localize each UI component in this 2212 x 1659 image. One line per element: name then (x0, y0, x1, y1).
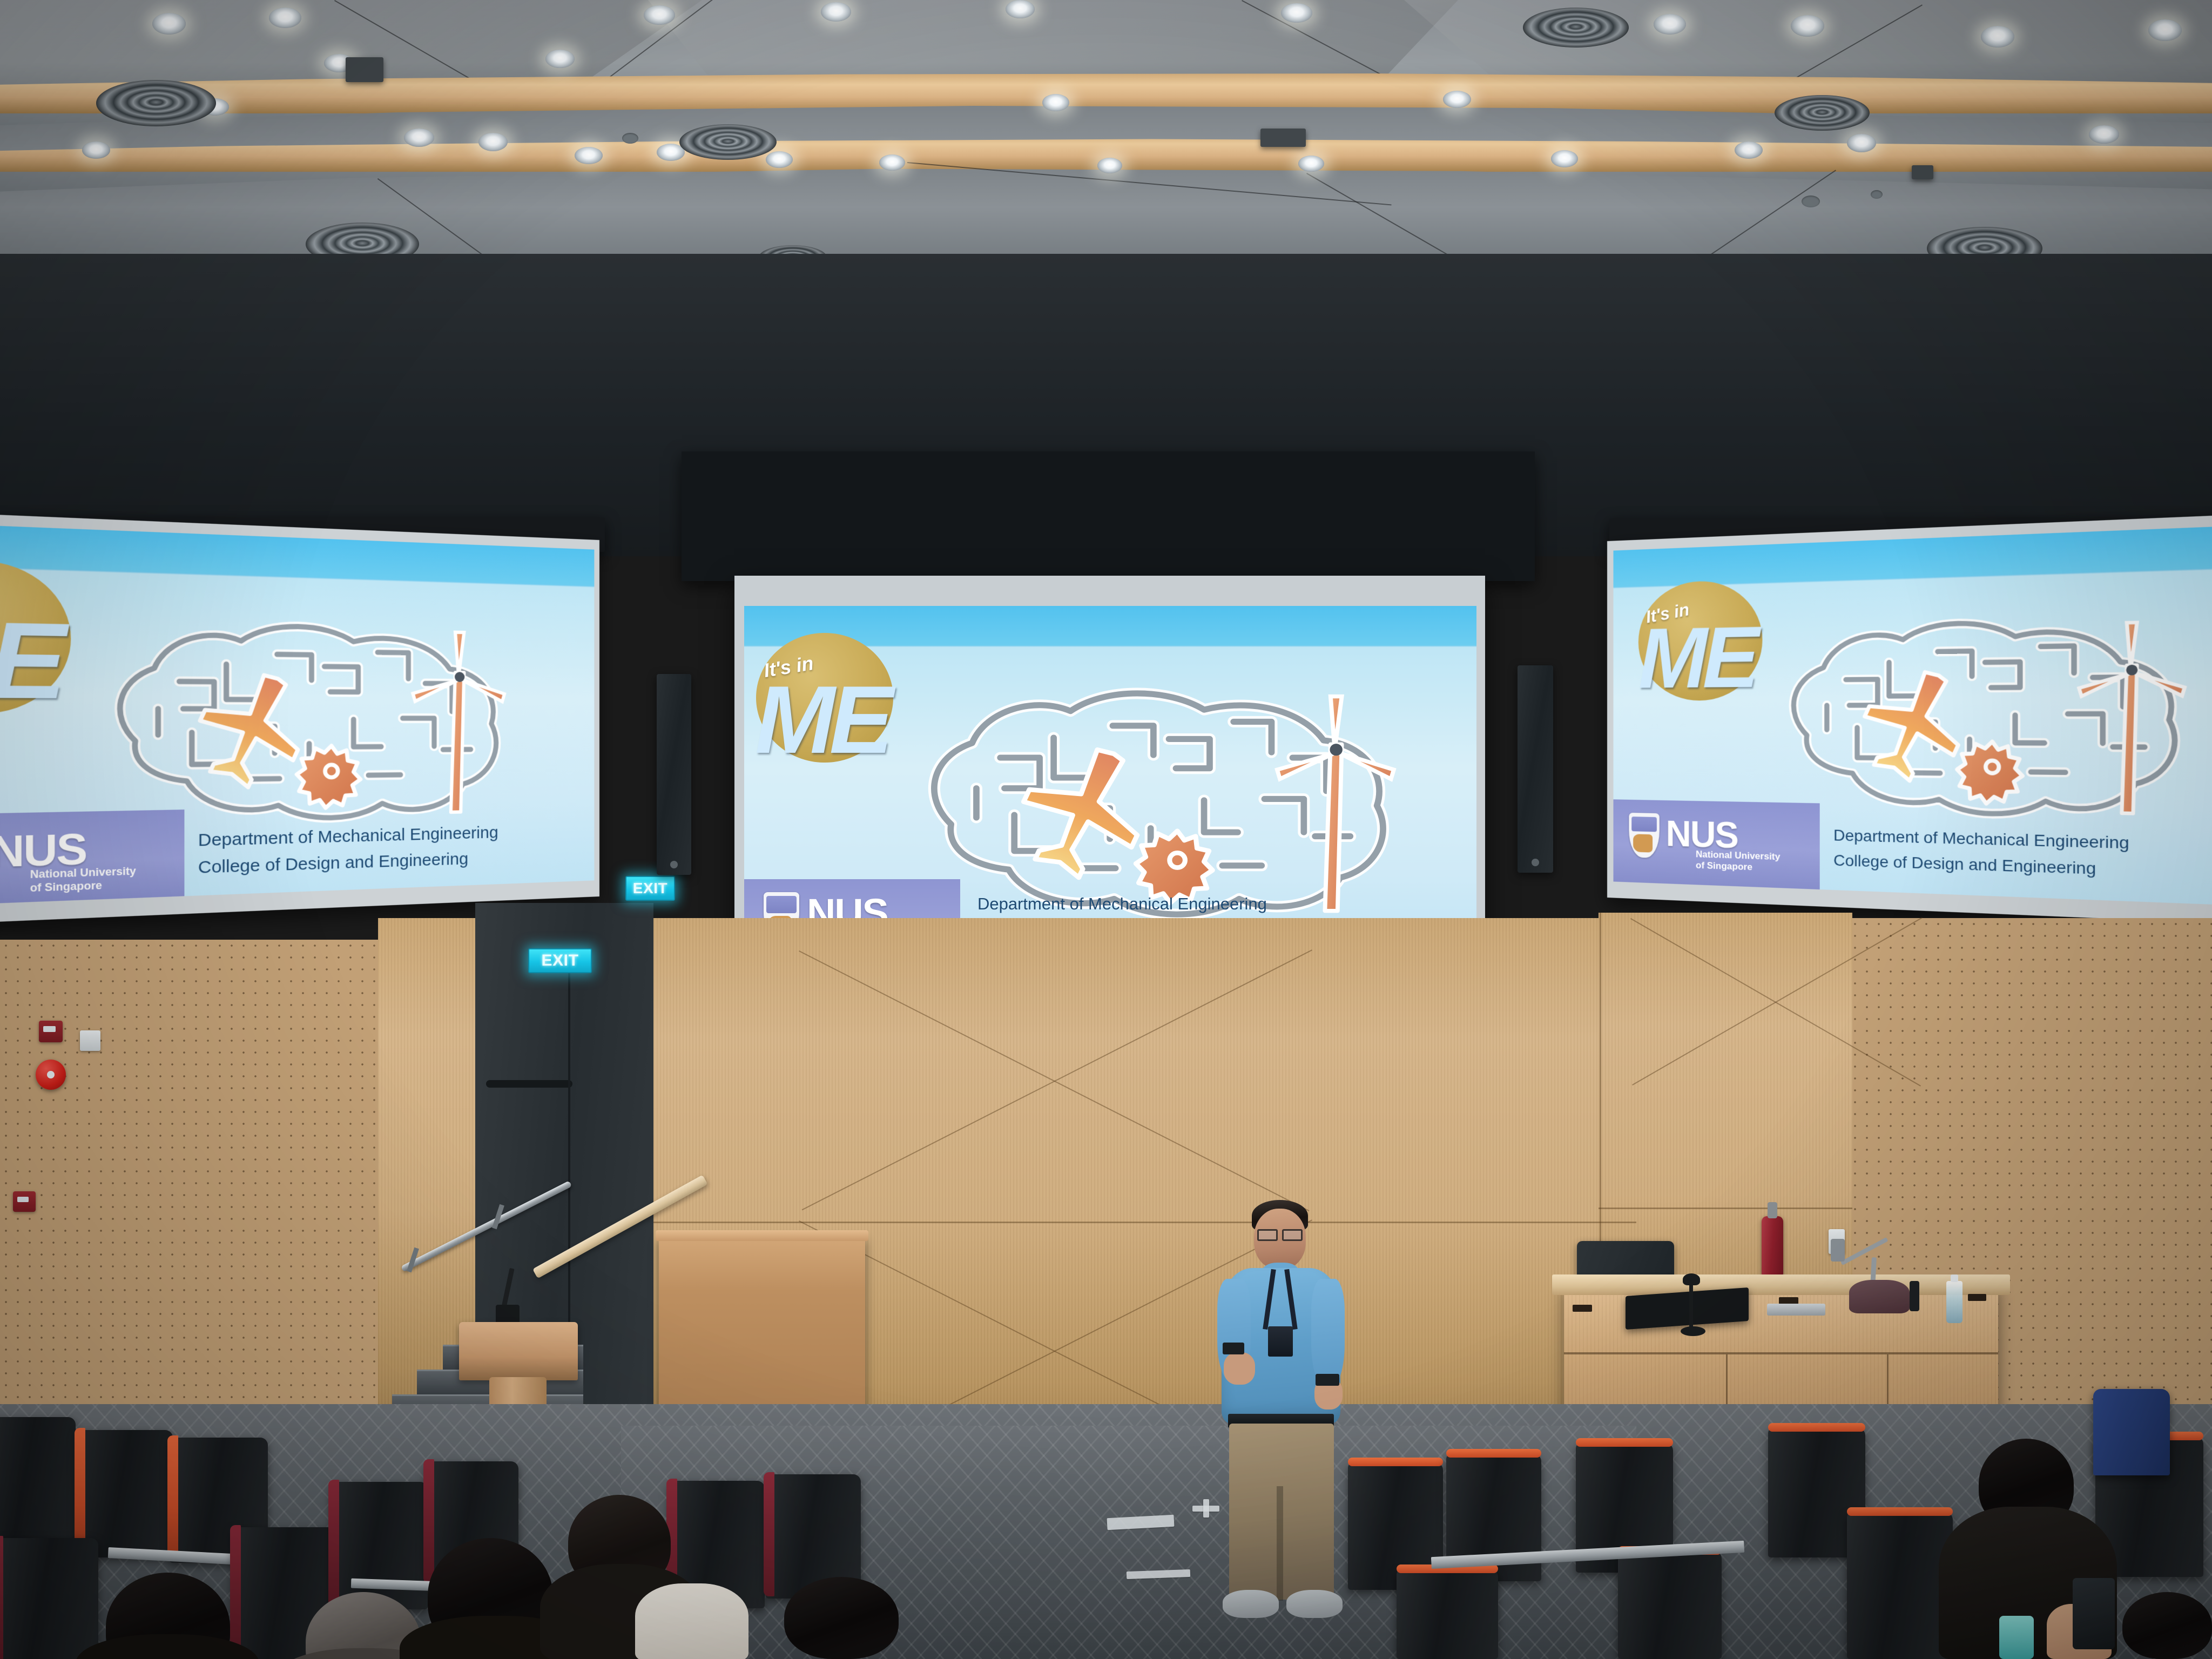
auditorium-chair[interactable] (1397, 1569, 1498, 1659)
auditorium-chair[interactable] (1847, 1512, 1953, 1659)
audience-white-shirt (635, 1583, 748, 1659)
ceiling-projector-mount (1260, 129, 1306, 147)
side-table-top (656, 1230, 868, 1241)
presenter-id-badge (1268, 1326, 1293, 1357)
door-handle-bar[interactable] (486, 1080, 572, 1088)
ceiling-downlight (269, 8, 301, 28)
ceiling-downlight (152, 13, 186, 35)
ceiling-downlight (1981, 26, 2014, 48)
exit-sign-lower: EXIT (528, 948, 592, 973)
gooseneck-microphone[interactable] (1689, 1281, 1693, 1331)
fire-extinguisher[interactable] (1762, 1216, 1783, 1277)
ceiling-downlight (2148, 19, 2182, 41)
bag-on-lectern (1849, 1280, 1910, 1313)
ceiling-downlight (1298, 156, 1324, 172)
presenter-right-shoe (1286, 1590, 1343, 1618)
ceiling-downlight (1847, 134, 1876, 152)
wall-seam-horizontal (621, 1222, 1636, 1223)
ceiling-sensor (622, 133, 638, 144)
ceiling-downlight (545, 50, 575, 68)
ceiling-downlight (1443, 91, 1471, 108)
ceiling-camera (1912, 165, 1933, 179)
ceiling-downlight (821, 2, 851, 22)
audience-water-bottle[interactable] (1999, 1616, 2034, 1659)
presentation-clicker[interactable] (1223, 1343, 1244, 1354)
nus-logo-bar: NUS National University of Singapore (1613, 799, 1819, 889)
audience-head (784, 1577, 899, 1659)
ceiling-projector-mount (346, 57, 383, 82)
brain-graphic (1747, 585, 2212, 840)
lectern-seam (1564, 1352, 1998, 1354)
exit-sign-label: EXIT (633, 880, 667, 897)
lectern-worktop (1552, 1274, 2010, 1295)
manual-call-point-lower[interactable] (13, 1191, 36, 1212)
desk-lamp-head[interactable] (1831, 1239, 1845, 1262)
ceiling-downlight (644, 5, 675, 25)
ceiling-downlight (404, 129, 434, 147)
manual-call-point-left[interactable] (39, 1021, 63, 1042)
air-diffuser (96, 80, 216, 126)
microphone-head (1683, 1273, 1700, 1285)
nus-shield-icon (1629, 813, 1659, 858)
wall-seam-horizontal (1599, 1208, 1852, 1209)
ceiling-downlight (1281, 3, 1312, 23)
nus-sub-line1: National University (30, 866, 136, 881)
ceiling-downlight (1735, 141, 1763, 159)
ceiling-downlight (82, 141, 110, 159)
auditorium-chair[interactable] (1618, 1551, 1722, 1659)
presenter-left-shoe (1223, 1590, 1279, 1618)
audience-head (2122, 1592, 2212, 1659)
auditorium-chair[interactable] (0, 1538, 98, 1659)
exit-sign-label: EXIT (541, 952, 578, 970)
air-diffuser (1523, 8, 1629, 48)
dept-line-2: College of Design and Engineering (198, 847, 468, 880)
fire-alarm-bell (36, 1060, 66, 1090)
right-slide: It's in ME (1613, 524, 2212, 907)
podium-lectern-top (459, 1322, 578, 1380)
ceiling-downlight (1042, 94, 1069, 111)
air-diffuser (679, 124, 777, 160)
nus-sub-line2: of Singapore (30, 880, 102, 894)
presenter (1198, 1200, 1360, 1627)
ceiling-downlight (766, 151, 793, 168)
ceiling-downlight (478, 133, 508, 151)
line-array-speaker-left (657, 674, 691, 875)
brain-graphic (64, 589, 552, 845)
left-slide: It's in ME (0, 523, 594, 906)
blue-chair-back[interactable] (2093, 1389, 2170, 1475)
dept-line-2: College of Design and Engineering (1833, 849, 2096, 880)
ceiling-downlight (575, 147, 603, 164)
auditorium-chair[interactable] (0, 1417, 76, 1541)
podium-mic-base (496, 1305, 520, 1324)
ceiling-downlight (1551, 150, 1578, 167)
acoustic-perforated-panel-left (0, 940, 443, 1426)
right-screen: It's in ME (1607, 512, 2212, 927)
wall-mounted-device (80, 1030, 100, 1051)
lectern-handle-slot[interactable] (1968, 1294, 1986, 1301)
exit-sign-upper: EXIT (625, 876, 675, 901)
water-bottle[interactable] (1946, 1281, 1963, 1323)
center-screen-valance (682, 451, 1535, 581)
dark-object-on-lectern (1910, 1281, 1919, 1311)
me-logo-me-text: ME (0, 596, 60, 724)
presenter-right-arm (1311, 1279, 1345, 1387)
left-screen: It's in ME (0, 511, 599, 925)
presenter-trouser-gap (1277, 1486, 1283, 1601)
lectern-laptop[interactable] (1767, 1304, 1825, 1316)
ceiling-downlight (2089, 125, 2119, 144)
presenter-left-hand (1224, 1352, 1255, 1385)
ceiling-sensor (1802, 195, 1820, 207)
nus-logo-bar: NUS National University of Singapore (0, 810, 184, 906)
dept-line-1: Department of Mechanical Engineering (977, 892, 1267, 916)
me-logo-me-text: ME (1638, 608, 1755, 708)
audience-phone[interactable] (2073, 1578, 2115, 1649)
line-array-speaker-right (1518, 665, 1553, 873)
microphone-base (1681, 1326, 1705, 1336)
nus-sub-line2: of Singapore (1696, 860, 1752, 872)
me-logo-me-text: ME (755, 664, 888, 775)
center-slide: It's in ME (744, 606, 1476, 965)
air-diffuser (1775, 95, 1870, 131)
ceiling-downlight (1006, 0, 1035, 18)
presenter-wristwatch (1316, 1374, 1339, 1386)
lecture-theatre-photo: It's in ME (0, 0, 2212, 1659)
presenter-glasses (1282, 1229, 1303, 1241)
ceiling-downlight (879, 154, 905, 171)
ceiling-downlight (1097, 158, 1122, 173)
ceiling-sensor (1871, 190, 1883, 199)
lectern-handle-slot[interactable] (1573, 1305, 1592, 1312)
presenter-glasses (1257, 1229, 1278, 1241)
ceiling-downlight (1654, 14, 1686, 35)
ceiling-downlight (1791, 15, 1824, 37)
